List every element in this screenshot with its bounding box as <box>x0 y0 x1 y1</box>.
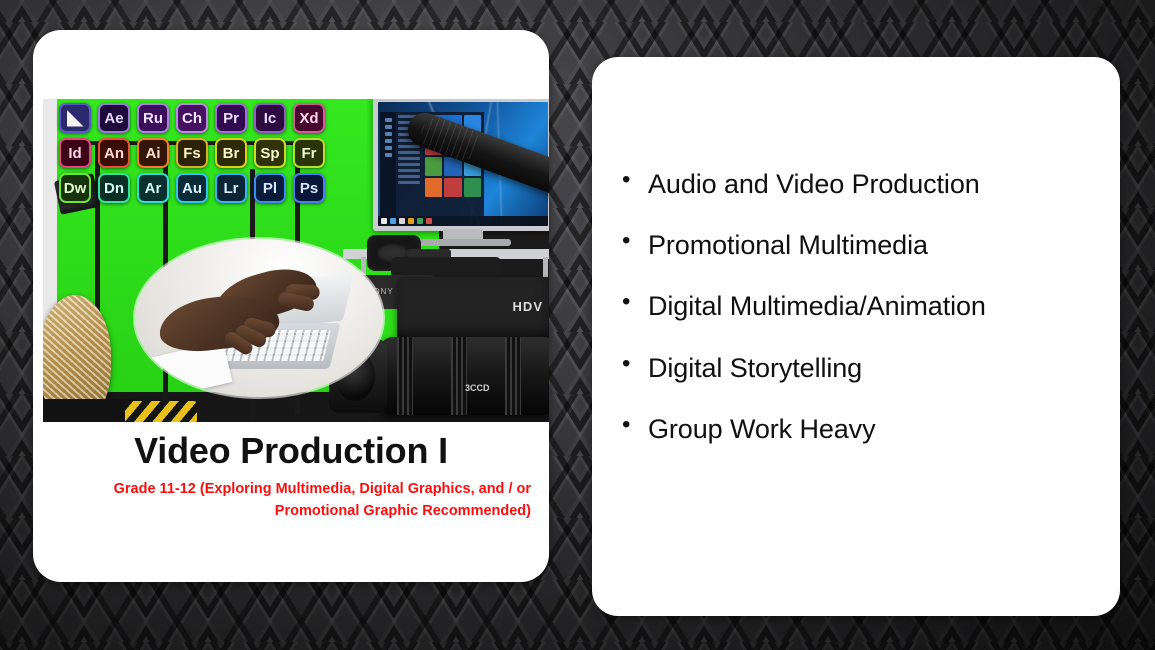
topic-bullet-item: Digital Multimedia/Animation <box>622 291 1096 321</box>
adobe-app-icon-dn: Dn <box>98 173 130 203</box>
adobe-app-icon-ch: Ch <box>176 103 208 133</box>
topic-bullet-item: Audio and Video Production <box>622 169 1096 199</box>
adobe-app-icon-ru: Ru <box>137 103 169 133</box>
lens-focus-ring <box>397 337 413 415</box>
adobe-app-icon-au: Au <box>176 173 208 203</box>
tile <box>464 178 481 197</box>
adobe-app-icon-ps: Ps <box>293 173 325 203</box>
adobe-app-icon-ae: Ae <box>98 103 130 133</box>
camera-body: HDV <box>397 277 549 341</box>
topics-bullet-list: Audio and Video ProductionPromotional Mu… <box>622 169 1096 475</box>
adobe-icon-row-3: DwDnArAuLrPlPs <box>59 173 325 203</box>
tile <box>444 178 461 197</box>
adobe-app-icon-ai: Ai <box>137 138 169 168</box>
hands-typing-oval-photo <box>135 239 383 397</box>
adobe-app-icon-br: Br <box>215 138 247 168</box>
adobe-app-icon-grid: AeRuChPrIcXd IdAnAiFsBrSpFr DwDnArAuLrPl… <box>59 103 325 203</box>
tile <box>425 178 442 197</box>
adobe-app-icon-id: Id <box>59 138 91 168</box>
start-menu-rail <box>380 112 396 216</box>
course-card: Ro SONY HDV 3CCD <box>33 30 549 582</box>
topic-bullet-item: Digital Storytelling <box>622 353 1096 383</box>
rush-icon <box>59 103 91 133</box>
adobe-app-icon-lr: Lr <box>215 173 247 203</box>
windows-taskbar <box>378 216 548 226</box>
adobe-app-icon-pr: Pr <box>215 103 247 133</box>
adobe-icon-row-1: AeRuChPrIcXd <box>59 103 325 133</box>
adobe-icon-row-2: IdAnAiFsBrSpFr <box>59 138 325 168</box>
adobe-app-icon-fr: Fr <box>293 138 325 168</box>
adobe-app-icon-pl: Pl <box>254 173 286 203</box>
adobe-app-icon-an: An <box>98 138 130 168</box>
camera-lens: 3CCD <box>379 337 549 415</box>
adobe-app-icon-sp: Sp <box>254 138 286 168</box>
course-prerequisite-note: Grade 11-12 (Exploring Multimedia, Digit… <box>67 478 531 523</box>
camera-sensor-label: 3CCD <box>465 383 490 393</box>
lens-zoom-ring <box>451 337 467 415</box>
adobe-app-icon-xd: Xd <box>293 103 325 133</box>
lens-iris-ring <box>505 337 521 415</box>
adobe-app-icon-fs: Fs <box>176 138 208 168</box>
adobe-app-icon-dw: Dw <box>59 173 91 203</box>
topic-bullet-item: Group Work Heavy <box>622 414 1096 444</box>
adobe-app-icon-ic: Ic <box>254 103 286 133</box>
page-title: Video Production I <box>33 430 549 472</box>
camera-format-label: HDV <box>513 299 543 314</box>
topics-card: Audio and Video ProductionPromotional Mu… <box>592 57 1120 616</box>
slide-canvas: Ro SONY HDV 3CCD <box>0 0 1155 650</box>
caution-tape <box>125 401 197 422</box>
rush-glyph <box>67 110 84 127</box>
topic-bullet-item: Promotional Multimedia <box>622 230 1096 260</box>
tile <box>425 157 442 176</box>
adobe-app-icon-ar: Ar <box>137 173 169 203</box>
studio-photo: Ro SONY HDV 3CCD <box>43 99 549 422</box>
